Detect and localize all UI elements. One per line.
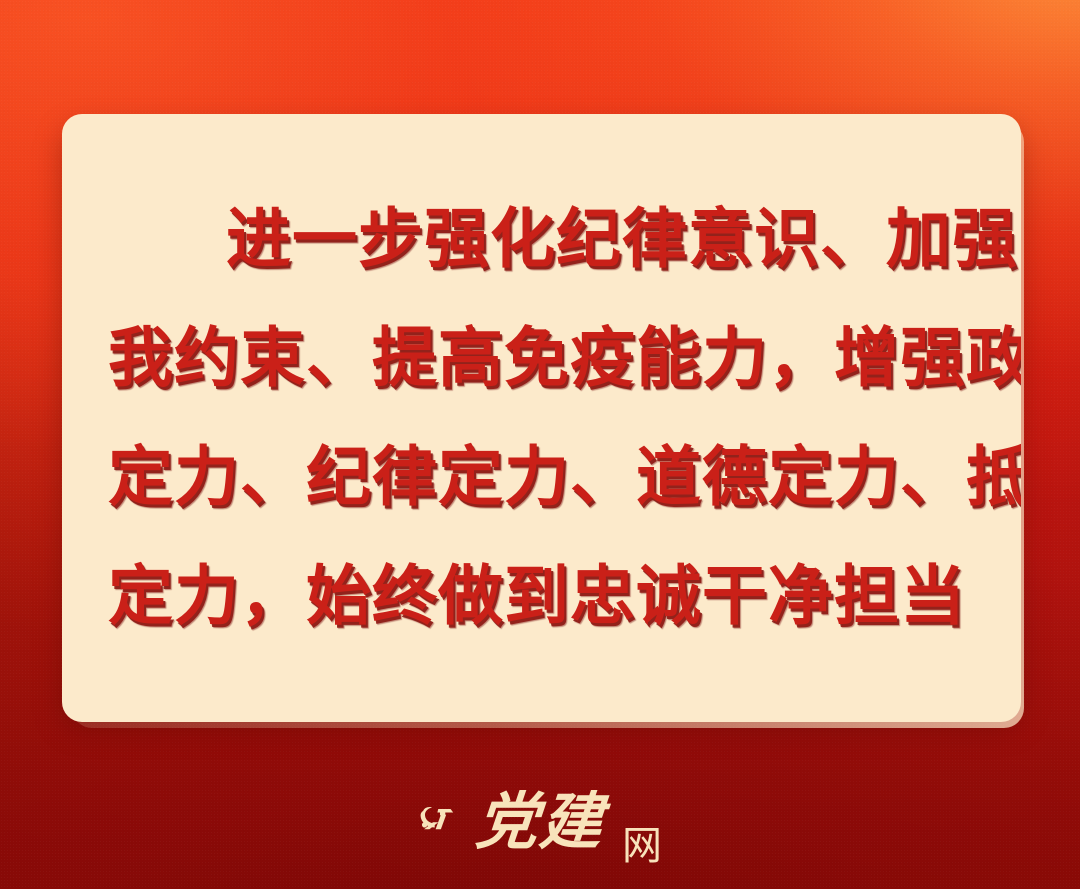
- headline-line-1: 进一步强化纪律意识、加强自: [108, 180, 975, 299]
- poster-canvas: 进一步强化纪律意识、加强自 我约束、提高免疫能力，增强政治 定力、纪律定力、道德…: [0, 0, 1080, 889]
- brand-name: 党建: [473, 791, 606, 853]
- cpc-hammer-sickle-emblem-icon: [418, 802, 462, 846]
- quote-card: 进一步强化纪律意识、加强自 我约束、提高免疫能力，增强政治 定力、纪律定力、道德…: [62, 114, 1021, 722]
- headline-line-2: 我约束、提高免疫能力，增强政治: [108, 299, 975, 418]
- headline-line-4: 定力，始终做到忠诚干净担当: [108, 537, 975, 656]
- brand-suffix: 网: [622, 826, 662, 866]
- brand-footer: 党建 网: [0, 772, 1080, 872]
- headline-block: 进一步强化纪律意识、加强自 我约束、提高免疫能力，增强政治 定力、纪律定力、道德…: [62, 180, 1021, 656]
- headline-line-3: 定力、纪律定力、道德定力、抵腐: [108, 418, 975, 537]
